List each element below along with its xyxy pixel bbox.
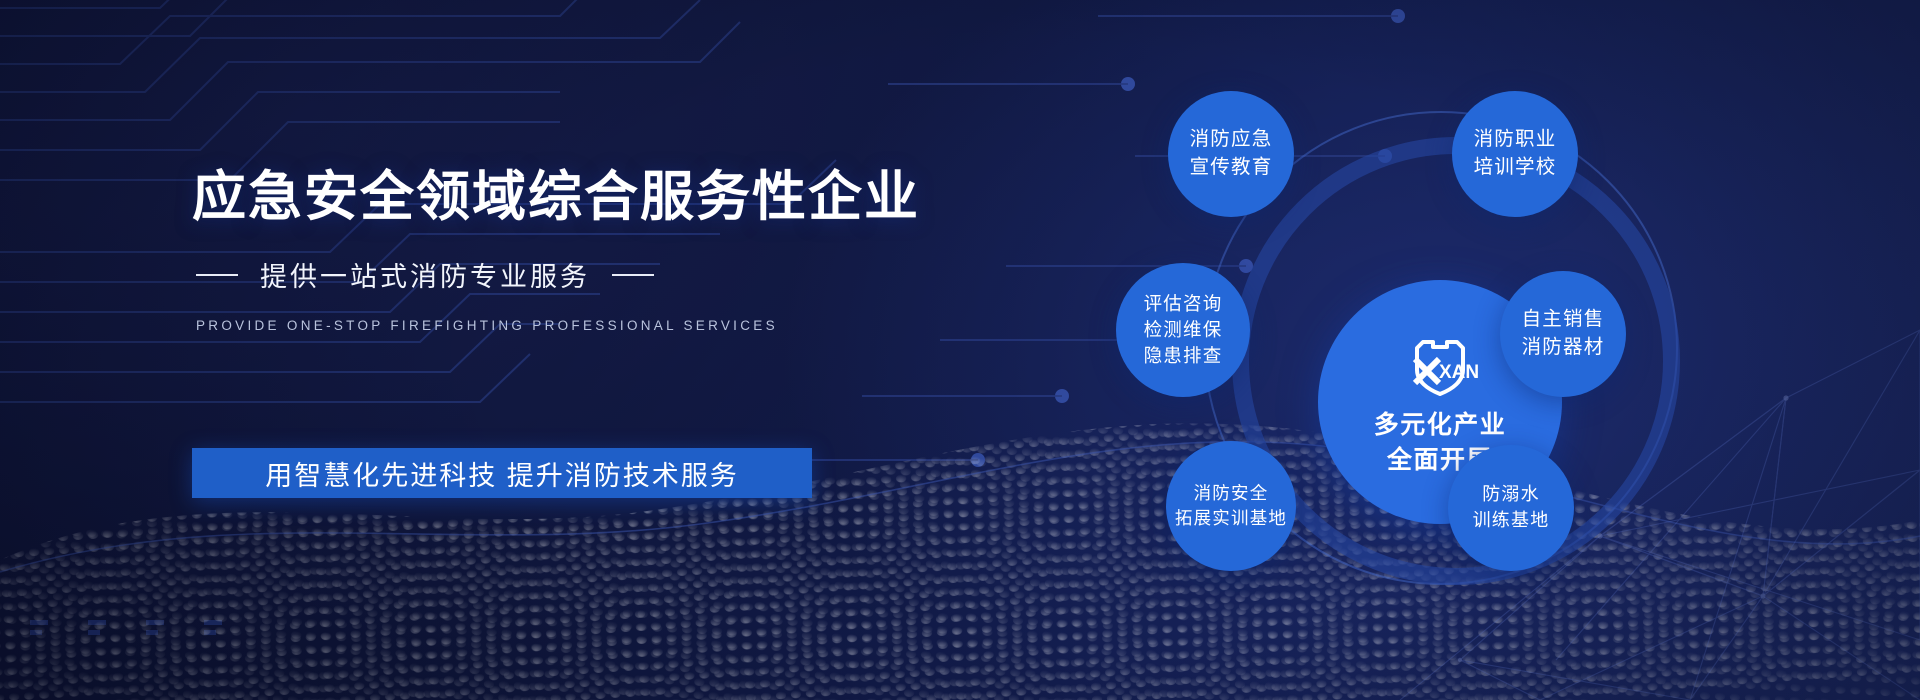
- node-line: 训练基地: [1473, 508, 1550, 534]
- diagram-node-safety-training-base[interactable]: 消防安全 拓展实训基地: [1166, 441, 1296, 571]
- cta-button-label: 用智慧化先进科技 提升消防技术服务: [265, 454, 739, 493]
- center-node-line-1: 多元化产业: [1374, 408, 1507, 444]
- node-line: 检测维保: [1144, 317, 1223, 343]
- diagram-node-fire-emergency-publicity[interactable]: 消防应急 宣传教育: [1168, 91, 1294, 217]
- node-line: 隐患排查: [1144, 343, 1223, 369]
- hero-text-block: 应急安全领域综合服务性企业 提供一站式消防专业服务 PROVIDE ONE-ST…: [192, 168, 920, 333]
- node-line: 消防应急: [1190, 126, 1273, 154]
- dash-left-icon: [196, 274, 238, 276]
- english-tagline: PROVIDE ONE-STOP FIREFIGHTING PROFESSION…: [196, 318, 920, 333]
- diagram-node-equipment-sales[interactable]: 自主销售 消防器材: [1500, 271, 1626, 397]
- cta-button[interactable]: 用智慧化先进科技 提升消防技术服务: [192, 448, 812, 498]
- node-line: 自主销售: [1522, 306, 1605, 334]
- node-line: 消防器材: [1522, 334, 1605, 362]
- diagram-node-fire-vocational-school[interactable]: 消防职业 培训学校: [1452, 91, 1578, 217]
- dash-right-icon: [612, 274, 654, 276]
- hero-banner: 应急安全领域综合服务性企业 提供一站式消防专业服务 PROVIDE ONE-ST…: [0, 0, 1920, 700]
- node-line: 评估咨询: [1144, 291, 1223, 317]
- node-line: 拓展实训基地: [1175, 506, 1287, 531]
- shield-logo-icon: XAN: [1401, 326, 1479, 402]
- diagram-node-assessment-inspection[interactable]: 评估咨询 检测维保 隐患排查: [1116, 263, 1250, 397]
- subtitle-row: 提供一站式消防专业服务: [196, 255, 920, 294]
- diagram-node-anti-drowning-base[interactable]: 防溺水 训练基地: [1448, 445, 1574, 571]
- node-line: 消防安全: [1194, 481, 1269, 506]
- svg-text:XAN: XAN: [1439, 362, 1479, 383]
- page-title: 应急安全领域综合服务性企业: [192, 168, 920, 227]
- node-line: 培训学校: [1474, 154, 1557, 182]
- node-line: 宣传教育: [1190, 154, 1273, 182]
- services-diagram: XAN 多元化产业 全面开展 消防应急 宣传教育 消防职业 培训学校 评估咨询 …: [1100, 75, 1780, 625]
- node-line: 消防职业: [1474, 126, 1557, 154]
- page-subtitle: 提供一站式消防专业服务: [260, 255, 590, 294]
- node-line: 防溺水: [1482, 482, 1540, 508]
